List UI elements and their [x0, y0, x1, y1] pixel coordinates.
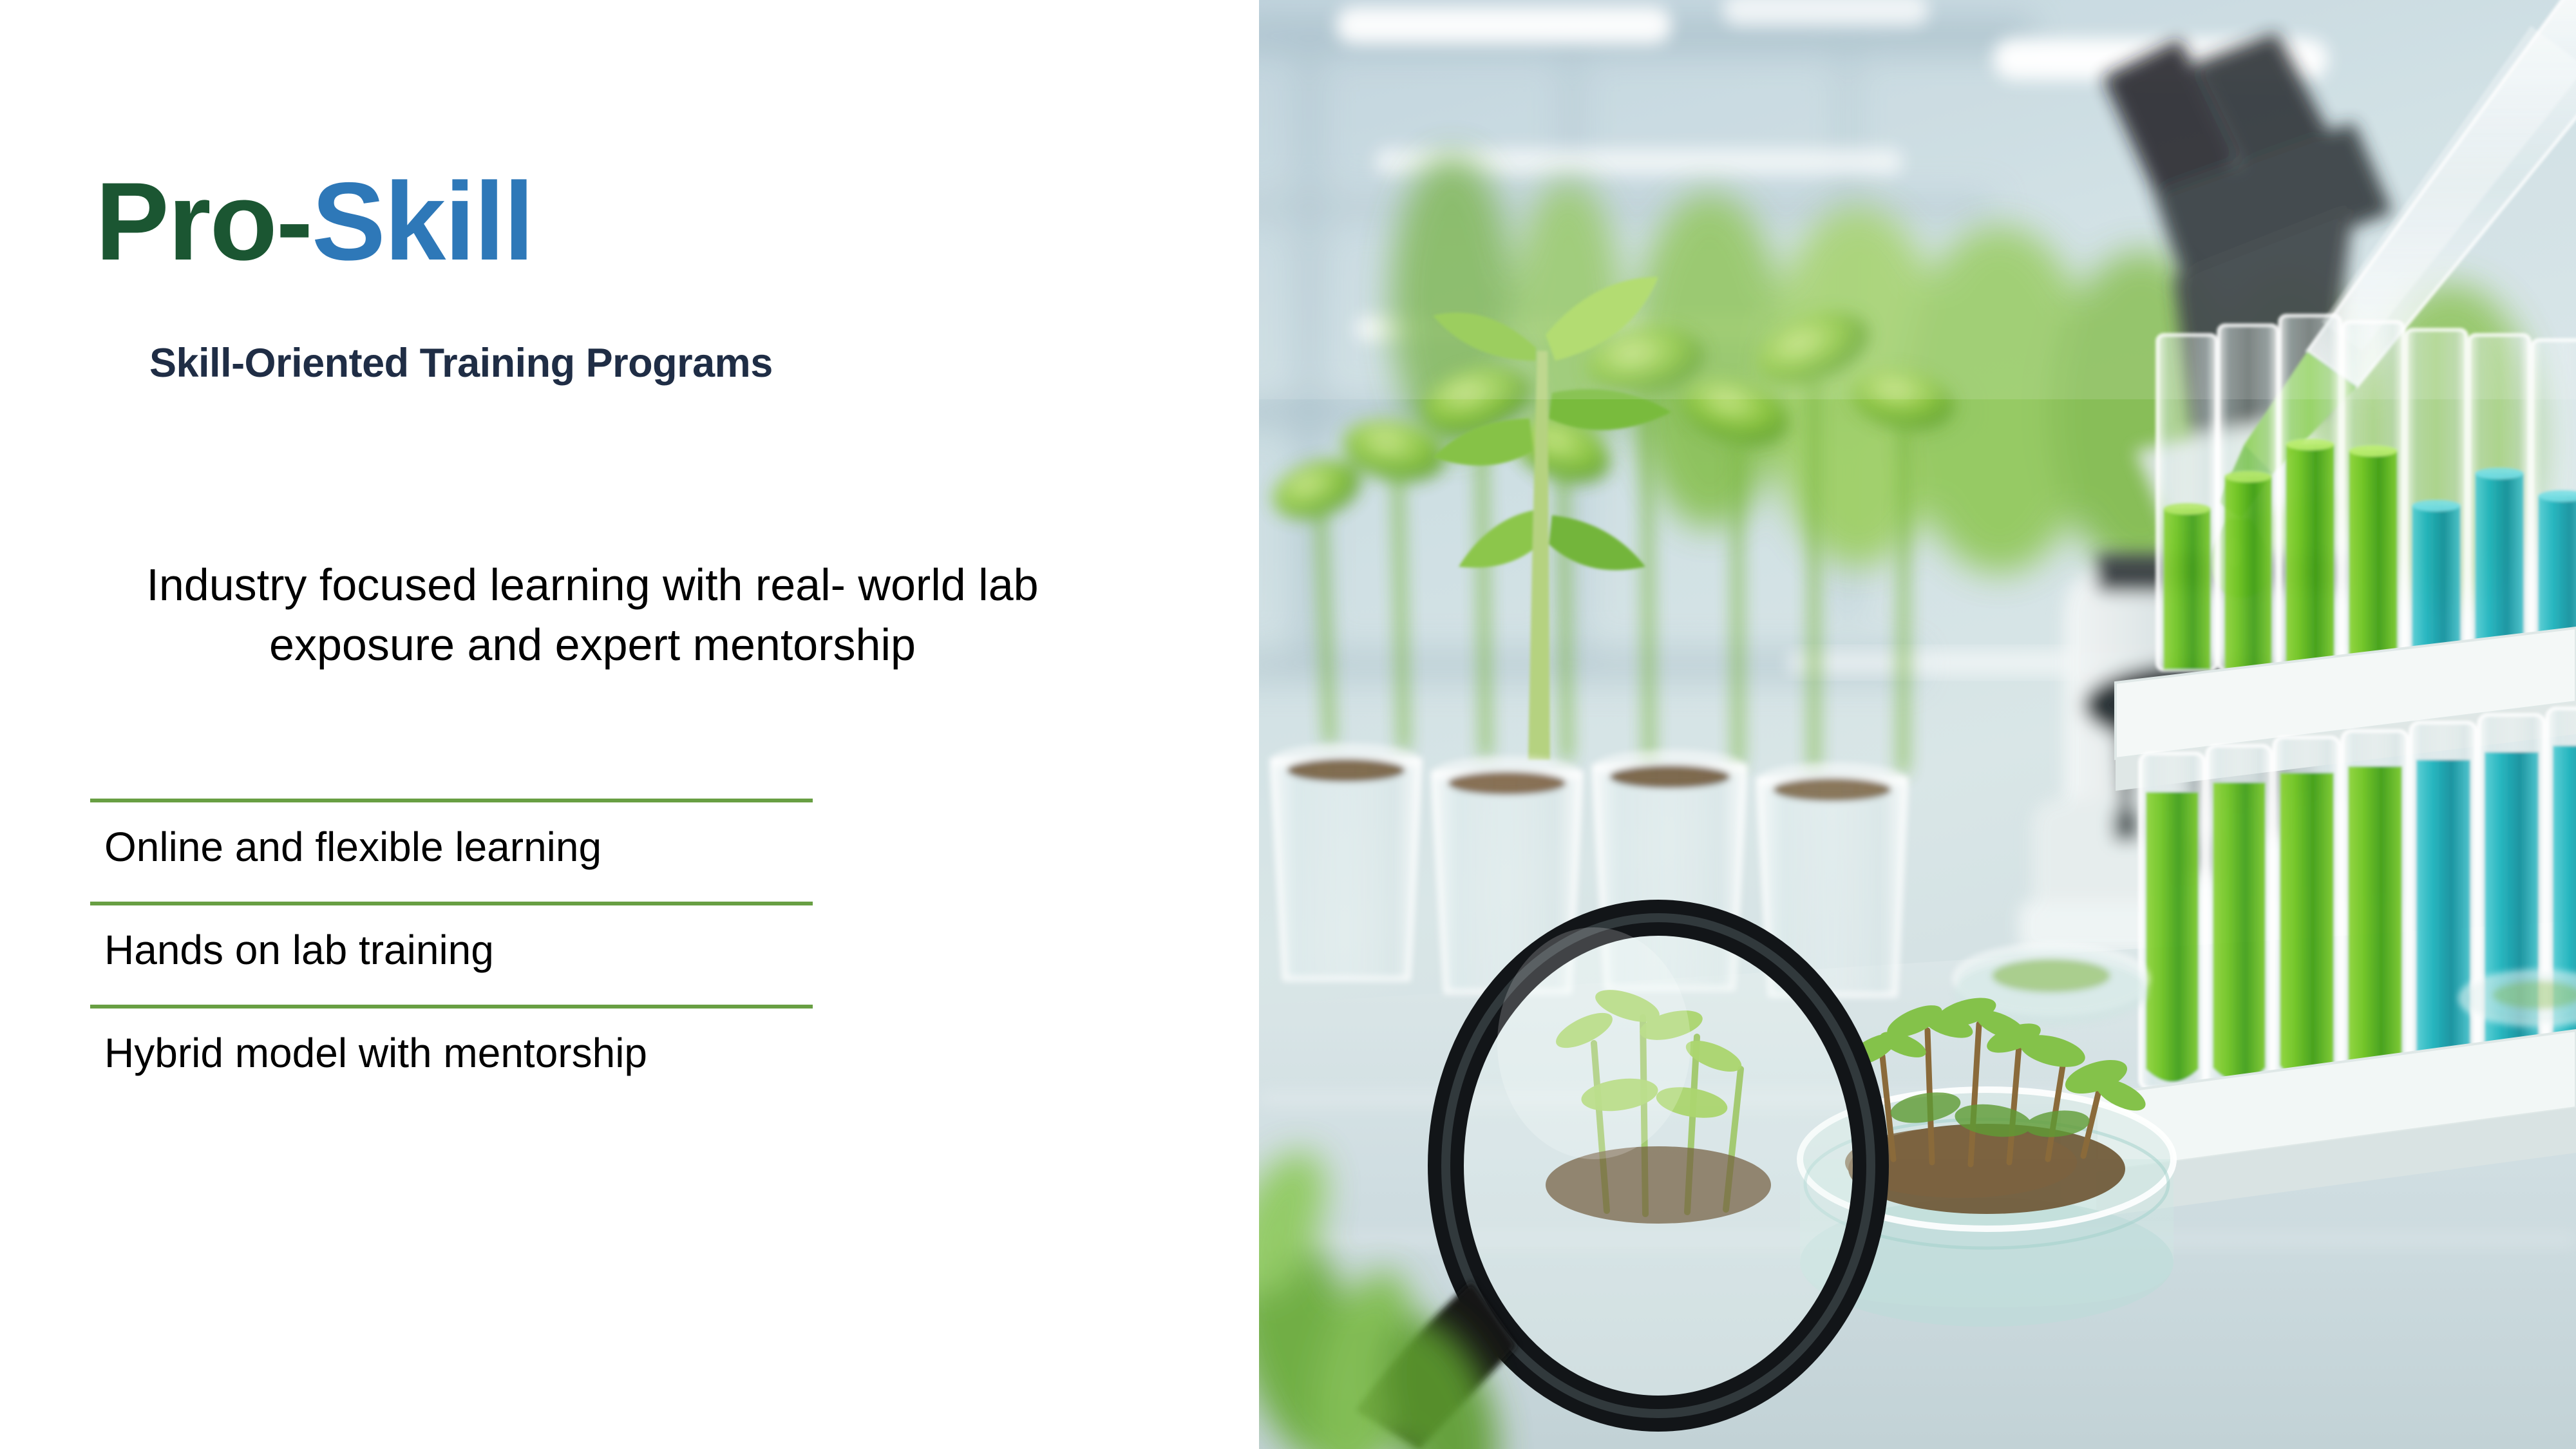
- lab-photo-illustration: [1259, 0, 2576, 1449]
- brand-subtitle: Skill-Oriented Training Programs: [149, 340, 773, 386]
- content-panel: Pro-Skill Skill-Oriented Training Progra…: [0, 0, 1259, 1449]
- list-item[interactable]: Online and flexible learning: [90, 799, 813, 902]
- list-item[interactable]: Hybrid model with mentorship: [90, 1005, 813, 1108]
- feature-divider: [90, 799, 813, 802]
- lab-photo: [1259, 0, 2576, 1449]
- brand-title-prefix: Pro-: [95, 160, 312, 283]
- lead-paragraph: Industry focused learning with real- wor…: [77, 555, 1108, 675]
- feature-label: Online and flexible learning: [104, 823, 601, 871]
- feature-label: Hands on lab training: [104, 926, 494, 974]
- feature-divider: [90, 1005, 813, 1009]
- list-item[interactable]: Hands on lab training: [90, 902, 813, 1005]
- brand-title-suffix: Skill: [312, 160, 533, 283]
- feature-label: Hybrid model with mentorship: [104, 1029, 647, 1077]
- brand-title: Pro-Skill: [95, 166, 533, 277]
- slide-root: Pro-Skill Skill-Oriented Training Progra…: [0, 0, 2576, 1449]
- test-tubes-front: [2140, 708, 2576, 1088]
- feature-divider: [90, 902, 813, 905]
- feature-list: Online and flexible learning Hands on la…: [90, 799, 813, 1108]
